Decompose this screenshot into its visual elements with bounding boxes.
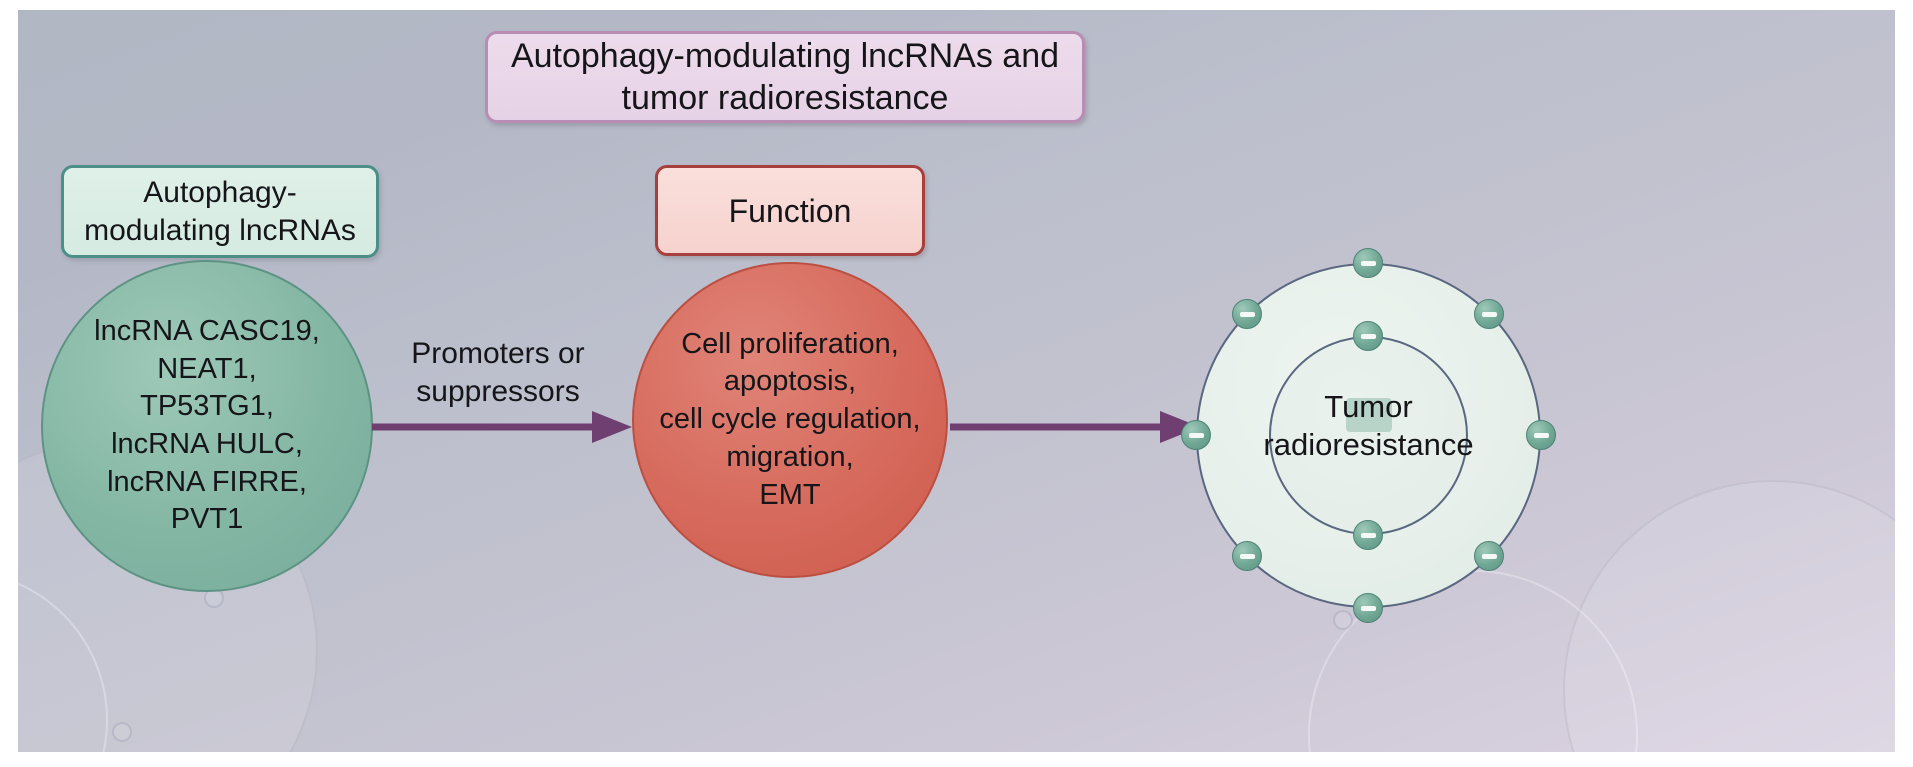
lncrna-circle: lncRNA CASC19, NEAT1, TP53TG1, lncRNA HU…: [41, 260, 373, 592]
decorative-dot-b: [112, 722, 132, 742]
arrow-promoters-suppressors: [370, 408, 635, 446]
tumor-cell-group: Tumor radioresistance: [1196, 263, 1541, 608]
diagram-canvas: Autophagy-modulating lncRNAs and tumor r…: [18, 10, 1895, 752]
receptor-icon-outer-right: [1526, 420, 1556, 450]
tumor-label: Tumor radioresistance: [1251, 388, 1486, 464]
figure-root: Autophagy-modulating lncRNAs and tumor r…: [0, 0, 1913, 767]
receptor-icon-outer-bottom: [1353, 593, 1383, 623]
lncrna-label-box: Autophagy- modulating lncRNAs: [61, 165, 379, 258]
receptor-icon-outer-upper-right: [1474, 299, 1504, 329]
receptor-icon-inner-bottom: [1353, 520, 1383, 550]
receptor-icon-outer-left: [1181, 420, 1211, 450]
receptor-icon-outer-top: [1353, 248, 1383, 278]
page-title: Autophagy-modulating lncRNAs and tumor r…: [485, 31, 1085, 123]
receptor-icon-inner-top: [1353, 321, 1383, 351]
receptor-icon-outer-upper-left: [1232, 299, 1262, 329]
function-circle: Cell proliferation, apoptosis, cell cycl…: [632, 262, 948, 578]
function-label-box: Function: [655, 165, 925, 256]
arrow1-label: Promoters or suppressors: [383, 335, 613, 410]
decorative-dot-c: [1333, 610, 1353, 630]
receptor-icon-outer-lower-right: [1474, 541, 1504, 571]
receptor-icon-outer-lower-left: [1232, 541, 1262, 571]
arrow-to-tumor: [948, 408, 1203, 446]
